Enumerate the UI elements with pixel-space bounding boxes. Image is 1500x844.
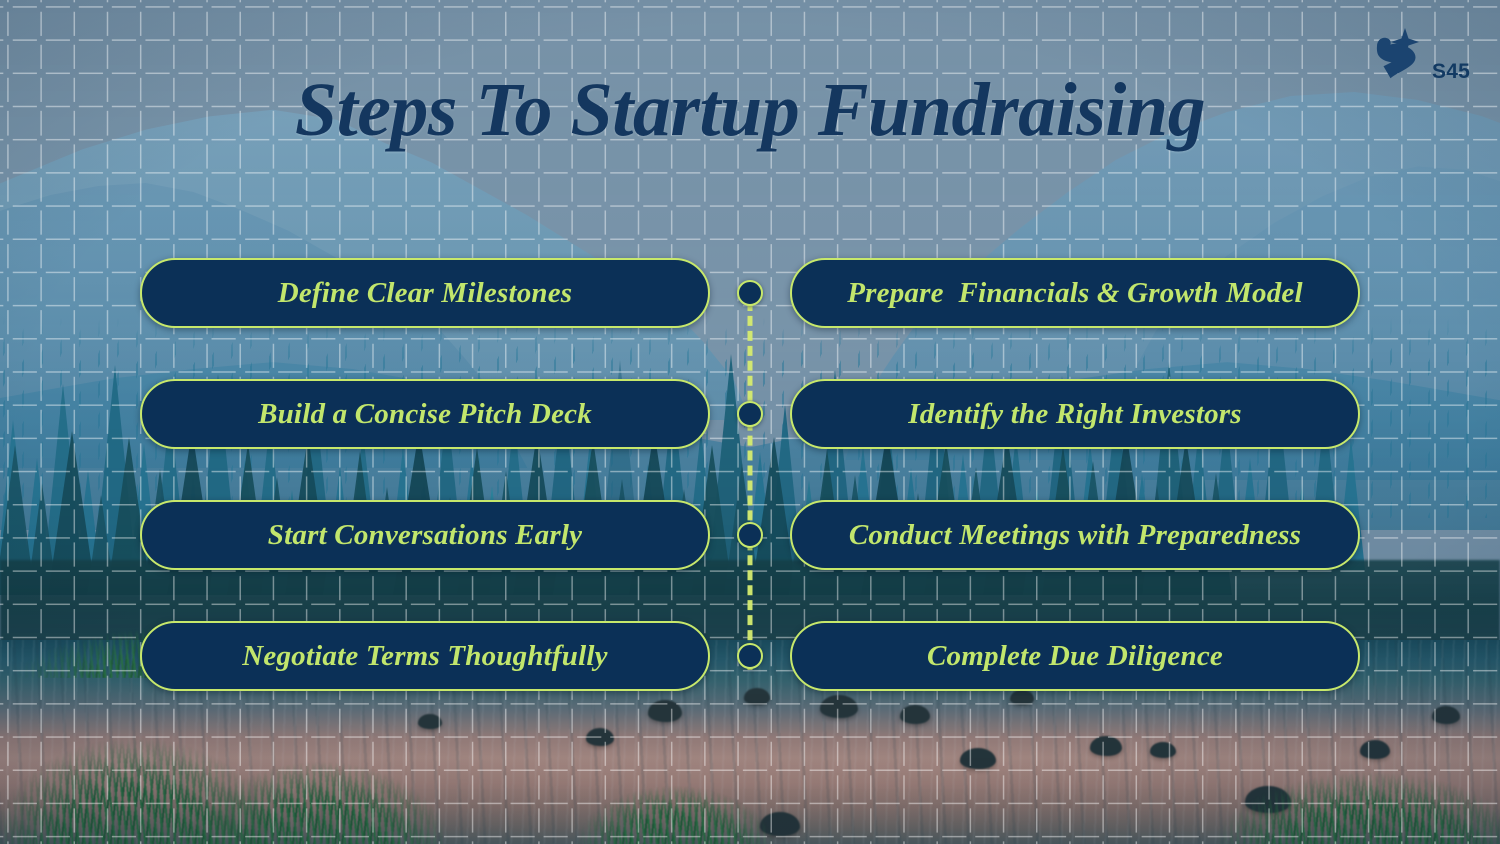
node-slot (710, 280, 790, 306)
step-label: Negotiate Terms Thoughtfully (242, 642, 607, 671)
step-pill-left-4[interactable]: Negotiate Terms Thoughtfully (140, 621, 710, 691)
page-title: Steps To Startup Fundraising (0, 72, 1500, 150)
step-pill-left-3[interactable]: Start Conversations Early (140, 500, 710, 570)
step-label: Conduct Meetings with Preparedness (849, 521, 1301, 550)
step-label: Build a Concise Pitch Deck (258, 400, 592, 429)
step-pill-right-2[interactable]: Identify the Right Investors (790, 379, 1360, 449)
timeline-node-1[interactable] (737, 280, 763, 306)
timeline-node-3[interactable] (737, 522, 763, 548)
step-label: Identify the Right Investors (908, 400, 1242, 429)
step-pill-right-4[interactable]: Complete Due Diligence (790, 621, 1360, 691)
node-slot (710, 401, 790, 427)
step-pill-left-1[interactable]: Define Clear Milestones (140, 258, 710, 328)
step-label: Define Clear Milestones (278, 279, 573, 308)
step-pill-left-2[interactable]: Build a Concise Pitch Deck (140, 379, 710, 449)
step-pill-right-3[interactable]: Conduct Meetings with Preparedness (790, 500, 1360, 570)
step-pill-right-1[interactable]: Prepare Financials & Growth Model (790, 258, 1360, 328)
slide-canvas: S45 Steps To Startup Fundraising Define … (0, 0, 1500, 844)
node-slot (710, 522, 790, 548)
step-label: Complete Due Diligence (927, 642, 1223, 671)
timeline-node-2[interactable] (737, 401, 763, 427)
timeline-connector-line (748, 286, 753, 670)
node-slot (710, 643, 790, 669)
slide-content: S45 Steps To Startup Fundraising Define … (0, 0, 1500, 844)
step-label: Start Conversations Early (268, 521, 582, 550)
step-label: Prepare Financials & Growth Model (847, 279, 1303, 308)
timeline-node-4[interactable] (737, 643, 763, 669)
